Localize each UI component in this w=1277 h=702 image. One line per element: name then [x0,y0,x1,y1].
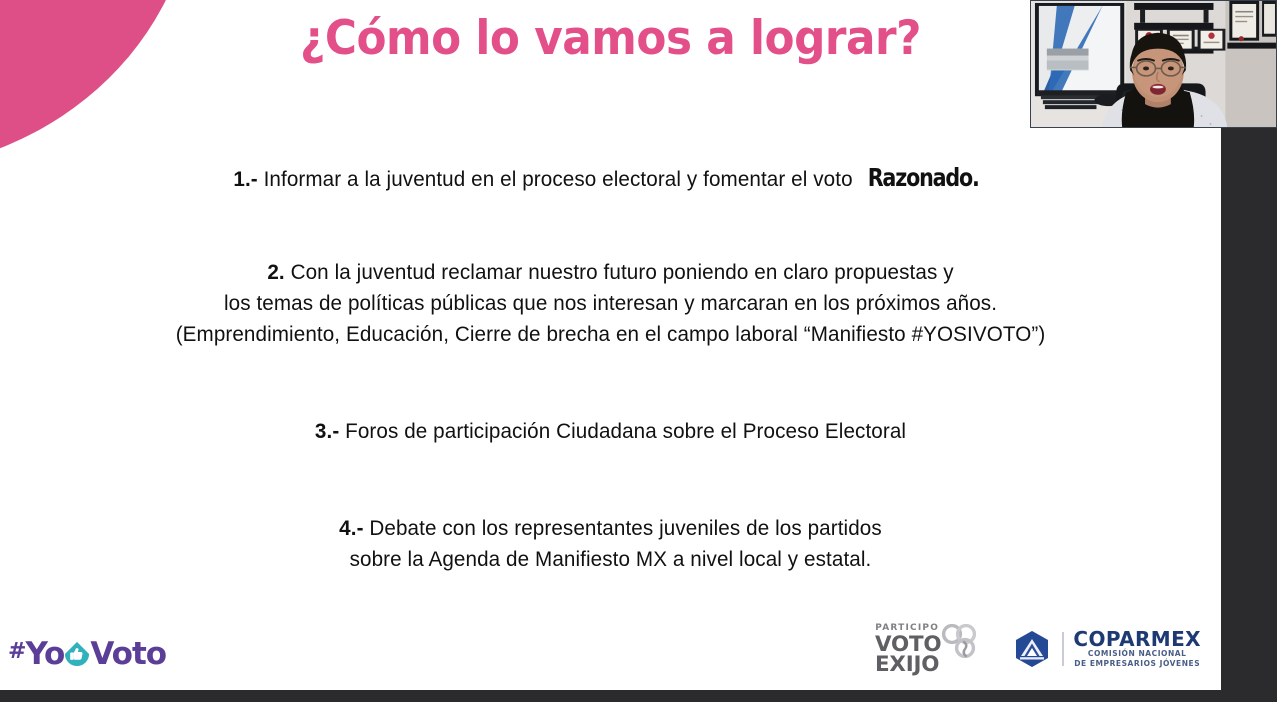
pve-wordmark: PARTICIPO VOTO EXIJO [875,624,940,674]
pve-voto-label: VOTO [875,634,941,654]
logo-divider [1062,632,1064,666]
coparmex-sub-line-2: DE EMPRESARIOS JÓVENES [1073,659,1201,668]
coparmex-hex-icon [1011,629,1053,669]
bullet-text: Con la juventud reclamar nuestro futuro … [291,260,954,284]
page-title: ¿Cómo lo vamos a lograr? [43,11,1179,66]
pve-exijo-label: EXIJO [875,654,939,674]
coparmex-name: COPARMEX [1073,629,1201,649]
bullet-emphasis: Razonado. [868,162,979,193]
coparmex-sub-line-1: COMISIÓN NACIONAL [1073,649,1201,658]
bullet-text: Foros de participación Ciudadana sobre e… [345,419,906,443]
bullet-line: los temas de políticas públicas que nos … [24,288,1196,319]
coparmex-logo: COPARMEX COMISIÓN NACIONAL DE EMPRESARIO… [1011,629,1201,669]
coparmex-wordmark: COPARMEX COMISIÓN NACIONAL DE EMPRESARIO… [1073,629,1201,668]
thumb-up-icon [62,640,92,670]
bullet-line: 4.- Debate con los representantes juveni… [24,513,1196,544]
sponsor-logos: PARTICIPO VOTO EXIJO [875,624,1201,674]
bullet-line: 3.- Foros de participación Ciudadana sob… [24,416,1196,447]
yosivoto-word-end: Voto [90,636,166,672]
bullet-point-3: 3.- Foros de participación Ciudadana sob… [24,416,1196,447]
video-call-stage: ¿Cómo lo vamos a lograr? 1.- Informar a … [0,0,1277,702]
rings-icon [941,624,977,664]
bullet-line: sobre la Agenda de Manifiesto MX a nivel… [24,544,1196,575]
bullet-number: 4.- [339,516,363,540]
bullet-line: 2. Con la juventud reclamar nuestro futu… [24,257,1196,288]
bullet-point-1: 1.- Informar a la juventud en el proceso… [24,162,1196,195]
bullet-point-4: 4.- Debate con los representantes juveni… [24,513,1196,575]
bullet-text: Informar a la juventud en el proceso ele… [264,167,859,191]
bullet-number: 3.- [315,419,339,443]
bullet-point-2: 2. Con la juventud reclamar nuestro futu… [24,257,1196,350]
hash-symbol: # [8,639,25,664]
yosivoto-logo: #Yo Voto [8,634,166,674]
webcam-video-tile[interactable] [1030,0,1277,128]
bullet-line: 1.- Informar a la juventud en el proceso… [24,162,1196,195]
bullet-number: 1.- [233,167,257,191]
bullet-number: 2. [267,260,284,284]
yosivoto-word-start: Yo [25,636,64,672]
bullet-text: Debate con los representantes juveniles … [369,516,881,540]
bullet-line: (Emprendimiento, Educación, Cierre de br… [24,319,1196,350]
slide-body: 1.- Informar a la juventud en el proceso… [0,150,1221,575]
participo-voto-exijo-logo: PARTICIPO VOTO EXIJO [875,624,977,674]
webcam-video-feed [1031,1,1276,128]
yosivoto-wordmark: #Yo Voto [8,636,166,672]
